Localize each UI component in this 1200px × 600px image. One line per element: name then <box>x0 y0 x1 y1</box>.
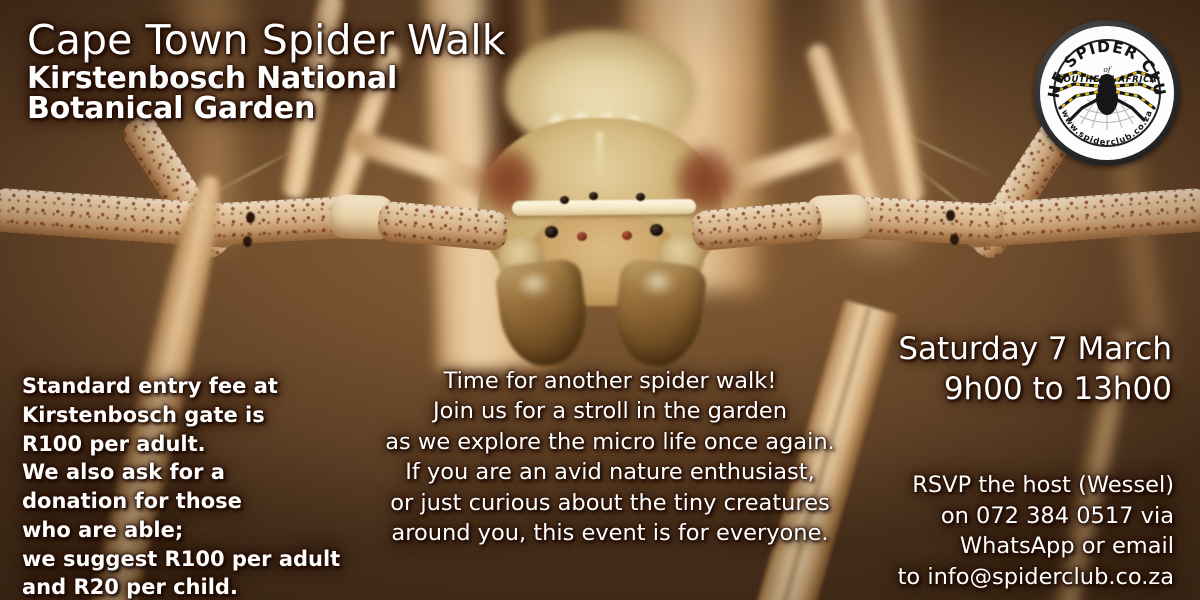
description-line: Join us for a stroll in the garden <box>360 396 860 426</box>
logo-region-text: SOUTHERN AFRICA <box>1057 75 1158 85</box>
page-title: Cape Town Spider Walk <box>27 20 506 62</box>
rsvp-line: on 072 384 0517 via <box>898 501 1174 532</box>
event-time: 9h00 to 13h00 <box>898 370 1172 410</box>
description-line: around you, this event is for everyone. <box>360 518 860 548</box>
rsvp-line: WhatsApp or email <box>898 531 1174 562</box>
fees-line: donation for those <box>22 487 340 516</box>
fees-line: we suggest R100 per adult <box>22 545 340 574</box>
description-line: as we explore the micro life once again. <box>360 427 860 457</box>
fees-line: Standard entry fee at <box>22 372 340 401</box>
description-line: Time for another spider walk! <box>360 366 860 396</box>
rsvp-line: to info@spiderclub.co.za <box>898 562 1174 593</box>
datetime-block: Saturday 7 March 9h00 to 13h00 <box>898 330 1172 409</box>
fees-line: and R20 per child. <box>22 573 340 600</box>
rsvp-block: RSVP the host (Wessel) on 072 384 0517 v… <box>898 470 1174 592</box>
subtitle-line-2: Botanical Garden <box>27 94 506 125</box>
fees-block: Standard entry fee at Kirstenbosch gate … <box>22 372 340 600</box>
poster-text-layer: Cape Town Spider Walk Kirstenbosch Natio… <box>0 0 1200 600</box>
logo-of-text: of <box>1103 65 1112 74</box>
fees-line: who are able; <box>22 516 340 545</box>
event-date: Saturday 7 March <box>898 330 1172 370</box>
rsvp-line: RSVP the host (Wessel) <box>898 470 1174 501</box>
fees-line: R100 per adult. <box>22 430 340 459</box>
logo-artwork: THE SPIDER CLUB of SOUTHERN AFRICA www.s… <box>1034 20 1180 166</box>
description-block: Time for another spider walk! Join us fo… <box>360 366 860 548</box>
subtitle-line-1: Kirstenbosch National <box>27 64 506 95</box>
description-line: or just curious about the tiny creatures <box>360 488 860 518</box>
spider-club-logo[interactable]: THE SPIDER CLUB of SOUTHERN AFRICA www.s… <box>1034 20 1180 166</box>
event-poster: Cape Town Spider Walk Kirstenbosch Natio… <box>0 0 1200 600</box>
fees-line: Kirstenbosch gate is <box>22 401 340 430</box>
fees-line: We also ask for a <box>22 458 340 487</box>
title-block: Cape Town Spider Walk Kirstenbosch Natio… <box>27 20 506 125</box>
description-line: If you are an avid nature enthusiast, <box>360 457 860 487</box>
